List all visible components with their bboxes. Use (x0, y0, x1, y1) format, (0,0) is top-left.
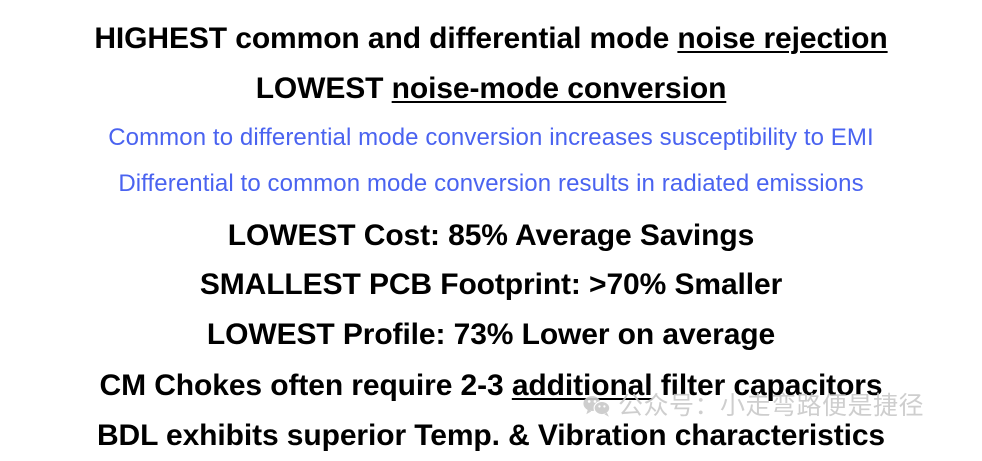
bullet-line-3: Common to differential mode conversion i… (0, 115, 982, 161)
bullet-line-5: LOWEST Cost: 85% Average Savings (0, 211, 982, 260)
line-1-text: HIGHEST common and differential mode (94, 22, 677, 55)
line-8-underlined-text: additional (512, 369, 653, 402)
line-4-text: Differential to common mode conversion r… (118, 170, 863, 197)
line-8-text: CM Chokes often require 2-3 (100, 369, 512, 402)
slide-canvas: HIGHEST common and differential mode noi… (0, 0, 982, 454)
bullet-line-2: LOWEST noise-mode conversion (0, 64, 982, 113)
line-2-underlined-text: noise-mode conversion (392, 72, 727, 105)
bullet-line-8: CM Chokes often require 2-3 additional f… (0, 360, 982, 411)
bullet-line-1: HIGHEST common and differential mode noi… (0, 14, 982, 64)
line-7-text: LOWEST Profile: 73% Lower on average (207, 318, 775, 351)
bullet-line-4: Differential to common mode conversion r… (0, 161, 982, 207)
line-1-underlined-text: noise rejection (677, 22, 887, 55)
line-5-text: LOWEST Cost: 85% Average Savings (228, 219, 754, 252)
line-8-text-after: filter capacitors (653, 369, 883, 402)
line-2-text: LOWEST (256, 72, 392, 105)
line-9-text: BDL exhibits superior Temp. & Vibration … (97, 419, 885, 452)
line-6-text: SMALLEST PCB Footprint: >70% Smaller (200, 268, 782, 301)
bullet-line-6: SMALLEST PCB Footprint: >70% Smaller (0, 260, 982, 310)
bullet-line-7: LOWEST Profile: 73% Lower on average (0, 310, 982, 360)
line-3-text: Common to differential mode conversion i… (108, 124, 874, 151)
